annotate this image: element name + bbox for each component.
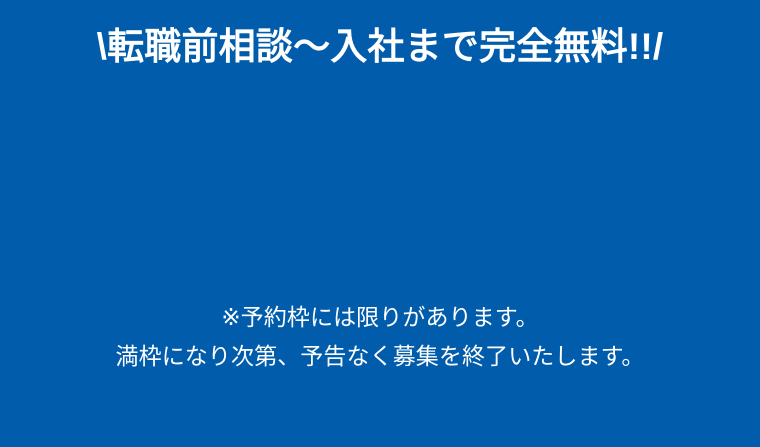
- headline-zone: \転職前相談〜入社まで完全無料!!/: [0, 0, 760, 95]
- promo-banner: \転職前相談〜入社まで完全無料!!/ ※予約枠には限りがあります。 満枠になり次…: [0, 0, 760, 447]
- note-line-2: 満枠になり次第、予告なく募集を終了いたします。: [116, 337, 645, 376]
- note-line-1: ※予約枠には限りがあります。: [221, 298, 538, 337]
- bottom-spacer: [0, 376, 760, 447]
- notes-zone: ※予約枠には限りがあります。 満枠になり次第、予告なく募集を終了いたします。: [0, 295, 760, 376]
- page-title: \転職前相談〜入社まで完全無料!!/: [97, 26, 664, 69]
- cta-slot: [0, 95, 760, 295]
